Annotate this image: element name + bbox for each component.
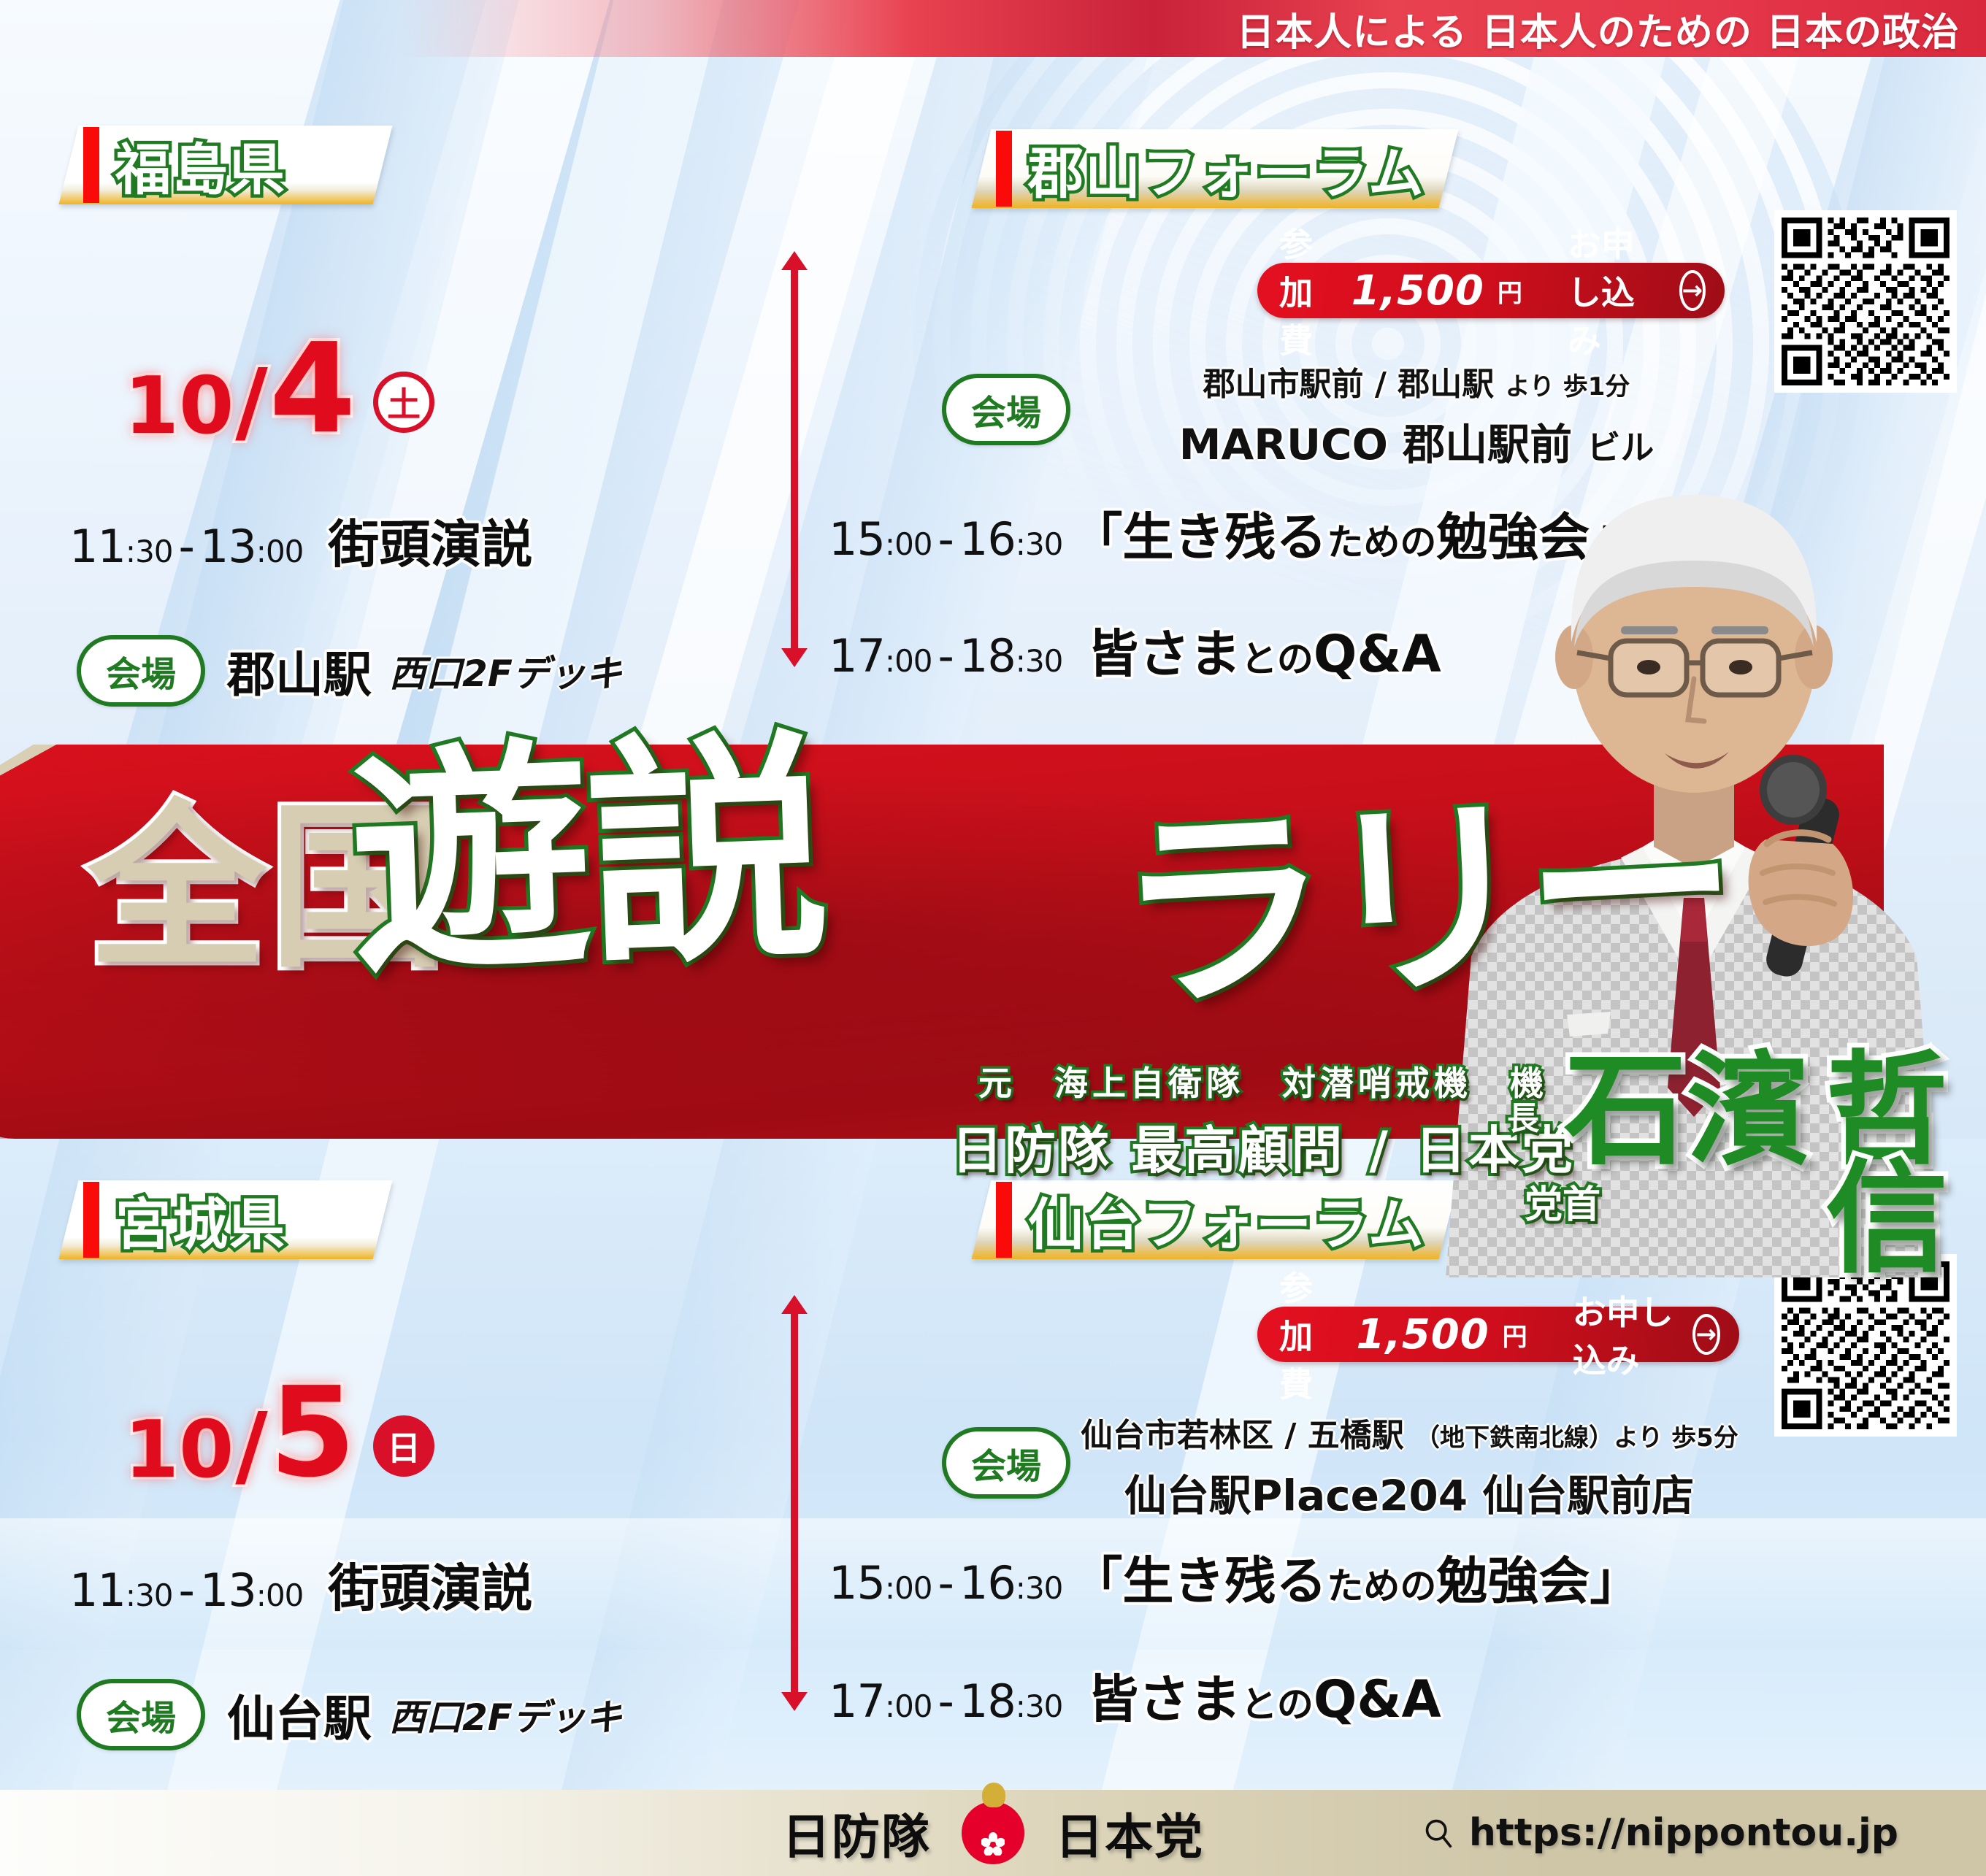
- arrow-right-icon[interactable]: →: [1692, 1314, 1720, 1355]
- session-start-min: :00: [885, 643, 932, 679]
- time-start-hour: 11: [69, 1564, 126, 1617]
- forum-heading-koriyama: 郡山フォーラム: [986, 135, 1425, 202]
- session-end-min: :30: [1016, 1570, 1063, 1606]
- qr-code-koriyama[interactable]: [1774, 210, 1957, 393]
- date-slash: /: [235, 357, 268, 446]
- credential-org2: 日本党: [1415, 1120, 1575, 1180]
- session-start-hour: 15: [829, 1556, 885, 1610]
- poster-root: 日本人による 日本人のための 日本の政治 福島県 10 / 4 土 11:30-…: [0, 0, 1986, 1876]
- session-time: 15:00-16:30: [829, 1556, 1062, 1610]
- footer-org1: 日防隊: [782, 1798, 931, 1868]
- forum-red-bar: [996, 1182, 1012, 1258]
- session-start-min: :00: [885, 1688, 932, 1724]
- time-start-hour: 11: [69, 520, 126, 573]
- street-speech-title: 街頭演説: [328, 504, 532, 577]
- fee-label: 参加費: [1279, 218, 1338, 363]
- search-icon: [1422, 1816, 1456, 1850]
- fee-label: 参加費: [1279, 1262, 1343, 1407]
- session-title: 「生き残るための勉強会」: [1071, 1540, 1641, 1614]
- time-dash: -: [179, 1564, 194, 1617]
- session-end-hour: 18: [959, 1675, 1016, 1728]
- street-venue-row-fukushima: 会場 郡山駅 西口2Fデッキ: [77, 635, 622, 707]
- arrow-right-icon[interactable]: →: [1679, 270, 1706, 311]
- plum-blossom-icon: [981, 1832, 1005, 1856]
- venue-sub: 西口2Fデッキ: [389, 1688, 622, 1741]
- date-slash: /: [235, 1401, 268, 1490]
- street-speech-time-row-miyagi: 11:30-13:00 街頭演説: [69, 1548, 532, 1621]
- session-dash: -: [938, 1675, 954, 1728]
- venue-name: 仙台駅: [227, 1680, 372, 1750]
- forum-venue-label-pill-sendai: 会場: [942, 1427, 1070, 1499]
- forum-label: 郡山フォーラム: [1028, 128, 1425, 209]
- session-time: 17:00-18:30: [829, 1675, 1062, 1728]
- speaker-surname: 石濱: [1564, 1057, 1809, 1165]
- party-logo-icon: [962, 1802, 1024, 1864]
- forum-address-line1: 仙台市若林区 / 五橋駅 （地下鉄南北線）より 歩5分: [1081, 1409, 1738, 1456]
- venue-sub: 西口2Fデッキ: [389, 645, 622, 697]
- timeline-connector-fukushima: [791, 263, 798, 650]
- apply-label: お申し込み: [1573, 1286, 1679, 1383]
- session-dash: -: [938, 512, 954, 566]
- venue-name: 郡山駅: [227, 636, 372, 706]
- day-of-week-badge: 土: [373, 372, 434, 433]
- session-end-hour: 18: [959, 629, 1016, 683]
- fee-unit: 円: [1498, 273, 1522, 309]
- session-end-hour: 16: [959, 1556, 1016, 1610]
- session-start-hour: 17: [829, 1675, 885, 1728]
- event-date-fukushima: 10 / 4 土: [124, 332, 434, 446]
- forum-session-row-1-sendai: 15:00-16:30 「生き残るための勉強会」: [829, 1540, 1641, 1614]
- main-title-yuzei: 遊説: [346, 729, 827, 986]
- forum-address-line1: 郡山市駅前 / 郡山駅 より 歩1分: [1095, 358, 1738, 404]
- session-end-min: :30: [1016, 1688, 1063, 1724]
- footer-org2: 日本党: [1055, 1798, 1204, 1868]
- time-dash: -: [179, 520, 194, 573]
- speaker-given-name: 哲信: [1825, 1057, 1986, 1273]
- date-month: 10: [124, 367, 234, 446]
- date-month: 10: [124, 1411, 234, 1490]
- forum-heading-sendai: 仙台フォーラム: [986, 1186, 1425, 1253]
- forum-address-sendai: 仙台市若林区 / 五橋駅 （地下鉄南北線）より 歩5分 仙台駅Place204 …: [1081, 1409, 1738, 1523]
- date-day: 4: [269, 332, 356, 446]
- fee-pill-sendai[interactable]: 参加費 1,500 円 お申し込み →: [1257, 1307, 1739, 1362]
- fee-unit: 円: [1503, 1317, 1527, 1353]
- footer-url-text: https://nippontou.jp: [1469, 1811, 1898, 1855]
- prefecture-heading-fukushima: 福島県: [73, 131, 286, 199]
- session-end-hour: 16: [959, 512, 1016, 566]
- fee-amount: 1,500: [1352, 267, 1484, 315]
- session-dash: -: [938, 1556, 954, 1610]
- session-end-min: :30: [1016, 526, 1063, 562]
- forum-label: 仙台フォーラム: [1028, 1180, 1425, 1260]
- credential-org1: 日防隊 最高顧問: [951, 1120, 1344, 1180]
- time-end-hour: 13: [200, 520, 256, 573]
- forum-red-bar: [996, 131, 1012, 207]
- street-speech-time-row-fukushima: 11:30-13:00 街頭演説: [69, 504, 532, 577]
- session-time: 15:00-16:30: [829, 512, 1062, 566]
- prefecture-label: 福島県: [115, 125, 286, 205]
- street-speech-title: 街頭演説: [328, 1548, 532, 1621]
- time-end-hour: 13: [200, 1564, 256, 1617]
- session-dash: -: [938, 629, 954, 683]
- event-date-miyagi: 10 / 5 日: [124, 1376, 434, 1490]
- fee-amount: 1,500: [1357, 1311, 1489, 1358]
- forum-session-row-2-koriyama: 17:00-18:30 皆さまとのQ&A: [829, 613, 1441, 687]
- session-end-min: :30: [1016, 643, 1063, 679]
- time-end-min: :00: [256, 1577, 304, 1613]
- day-of-week-label: 日: [387, 1422, 421, 1470]
- street-speech-time: 11:30-13:00: [69, 1564, 303, 1617]
- session-start-hour: 15: [829, 512, 885, 566]
- street-venue-row-miyagi: 会場 仙台駅 西口2Fデッキ: [77, 1679, 622, 1750]
- apply-label: お申し込み: [1568, 218, 1666, 363]
- forum-address-line2: 仙台駅Place204 仙台駅前店: [1081, 1461, 1738, 1523]
- credential-org2-tail: 党首: [1525, 1174, 1600, 1229]
- credential-line1-tail: 長: [1507, 1092, 1539, 1139]
- forum-venue-label-pill-koriyama: 会場: [942, 374, 1070, 445]
- session-start-min: :00: [885, 1570, 932, 1606]
- forum-session-row-2-sendai: 17:00-18:30 皆さまとのQ&A: [829, 1658, 1441, 1732]
- forum-venue-label: 会場: [971, 393, 1041, 434]
- prefecture-red-bar: [83, 1182, 99, 1258]
- venue-label-pill: 会場: [77, 635, 205, 707]
- day-of-week-badge: 日: [373, 1415, 434, 1477]
- footer-url-group[interactable]: https://nippontou.jp: [1422, 1811, 1898, 1855]
- fee-pill-koriyama[interactable]: 参加費 1,500 円 お申し込み →: [1257, 263, 1725, 318]
- session-time: 17:00-18:30: [829, 629, 1062, 683]
- qr-code-image: [1782, 218, 1949, 385]
- main-title-rally: ラリー: [1112, 780, 1736, 1023]
- chrysanthemum-icon: [982, 1783, 1005, 1807]
- session-start-hour: 17: [829, 629, 885, 683]
- time-end-min: :00: [256, 534, 304, 569]
- prefecture-heading-miyagi: 宮城県: [73, 1186, 286, 1253]
- date-day: 5: [269, 1376, 356, 1490]
- time-start-min: :30: [126, 534, 173, 569]
- session-title: 皆さまとのQ&A: [1087, 613, 1441, 687]
- prefecture-label: 宮城県: [115, 1180, 286, 1260]
- header-slogan-text: 日本人による 日本人のための 日本の政治: [1236, 1, 1960, 56]
- venue-label-pill: 会場: [77, 1679, 205, 1750]
- prefecture-red-bar: [83, 127, 99, 203]
- session-start-min: :00: [885, 526, 932, 562]
- session-title: 皆さまとのQ&A: [1087, 1658, 1441, 1732]
- street-speech-time: 11:30-13:00: [69, 520, 303, 573]
- timeline-connector-miyagi: [791, 1307, 798, 1694]
- day-of-week-label: 土: [387, 378, 421, 426]
- forum-venue-label: 会場: [971, 1446, 1041, 1487]
- credential-slash: /: [1369, 1120, 1390, 1180]
- footer-bar: 日防隊 日本党 https://nippontou.jp: [0, 1790, 1986, 1876]
- time-start-min: :30: [126, 1577, 173, 1613]
- header-slogan-bar: 日本人による 日本人のための 日本の政治: [0, 0, 1986, 57]
